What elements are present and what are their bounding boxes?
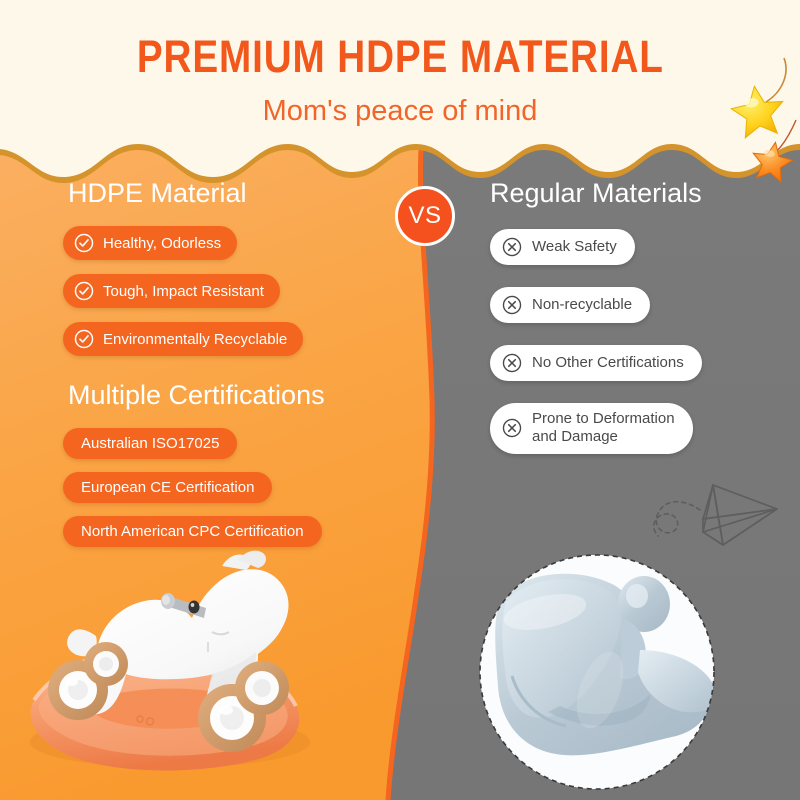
check-circle-icon — [73, 232, 95, 254]
certifications-heading: Multiple Certifications — [68, 382, 400, 409]
certification-pill: European CE Certification — [63, 472, 272, 503]
x-circle-icon — [501, 352, 523, 374]
feature-pill: Tough, Impact Resistant — [63, 274, 280, 308]
hdpe-heading: HDPE Material — [68, 180, 400, 207]
feature-label: Tough, Impact Resistant — [103, 283, 264, 300]
vs-badge: VS — [395, 186, 455, 246]
certification-pill: North American CPC Certification — [63, 516, 322, 547]
regular-materials-heading: Regular Materials — [490, 180, 800, 207]
drawback-label-line1: Prone to Deformation — [532, 410, 675, 427]
x-circle-icon — [501, 236, 523, 258]
drawback-label: Weak Safety — [532, 238, 617, 256]
feature-label: Environmentally Recyclable — [103, 331, 287, 348]
drawback-label-line2: and Damage — [532, 428, 618, 445]
drawback-pill: Non-recyclable — [490, 287, 650, 323]
x-circle-icon — [501, 294, 523, 316]
page-title: PREMIUM HDPE MATERIAL — [137, 34, 664, 79]
certification-label: Australian ISO17025 — [81, 435, 219, 452]
certification-pill: Australian ISO17025 — [63, 428, 237, 459]
hdpe-column: HDPE Material Healthy, Odorless Tough, I… — [0, 180, 400, 547]
header: PREMIUM HDPE MATERIAL Mom's peace of min… — [0, 0, 800, 150]
drawback-label: Non-recyclable — [532, 296, 632, 314]
feature-label: Healthy, Odorless — [103, 235, 221, 252]
x-circle-icon — [501, 417, 523, 439]
feature-pill: Environmentally Recyclable — [63, 322, 303, 356]
drawback-pill: Prone to Deformation and Damage — [490, 403, 693, 454]
feature-pill: Healthy, Odorless — [63, 226, 237, 260]
drawback-pill: Weak Safety — [490, 229, 635, 265]
drawback-label: No Other Certifications — [532, 354, 684, 372]
page-subtitle: Mom's peace of mind — [263, 95, 538, 128]
regular-materials-column: Regular Materials Weak Safety Non-recycl… — [470, 180, 800, 454]
drawback-pill: No Other Certifications — [490, 345, 702, 381]
certification-label: European CE Certification — [81, 479, 254, 496]
certification-label: North American CPC Certification — [81, 523, 304, 540]
check-circle-icon — [73, 280, 95, 302]
infographic-poster: PREMIUM HDPE MATERIAL Mom's peace of min… — [0, 0, 800, 800]
check-circle-icon — [73, 328, 95, 350]
